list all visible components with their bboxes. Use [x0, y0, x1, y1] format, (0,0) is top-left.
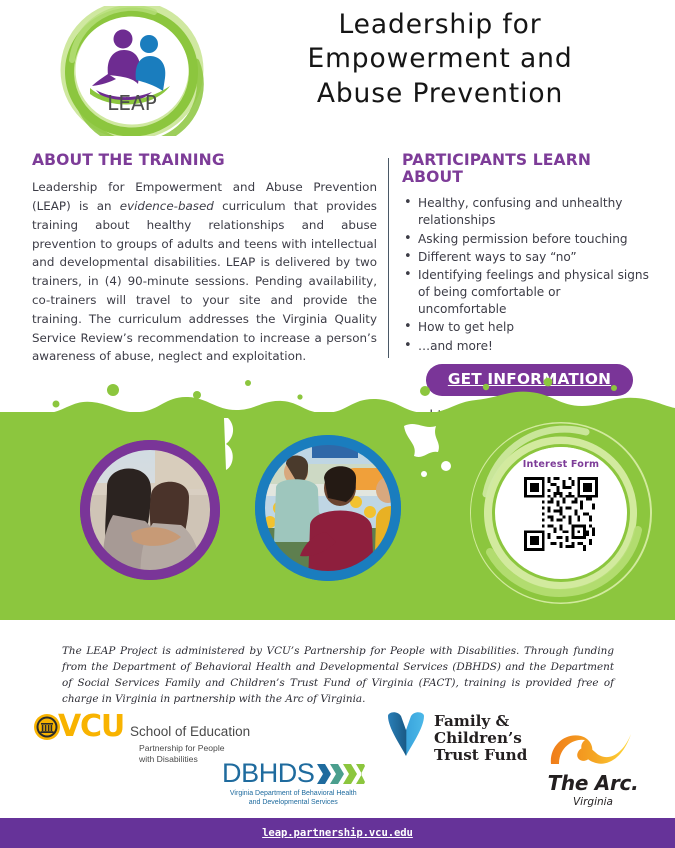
about-paragraph: Leadership for Empowerment and Abuse Pre…: [32, 178, 377, 366]
vcu-seal-icon: [33, 713, 61, 741]
participants-list: Healthy, confusing and unhealthy relatio…: [402, 195, 652, 355]
qr-label: Interest Form: [497, 459, 625, 470]
arc-state-label: Virginia: [538, 796, 648, 808]
leap-logo-icon: LEAP: [46, 6, 218, 136]
family-childrens-trust-fund-logo: Family & Children’s Trust Fund: [385, 710, 527, 764]
qr-code-card: Interest Form: [497, 447, 625, 575]
list-item: How to get help: [402, 319, 652, 336]
vcu-school-label: School of Education: [130, 724, 250, 739]
vcu-logo: VCU School of Education Partnership for …: [33, 713, 250, 765]
list-item: Identifying feelings and physical signs …: [402, 267, 652, 319]
photo-three-people-gardening: [252, 432, 404, 584]
participants-heading: PARTICIPANTS LEARN ABOUT: [402, 152, 652, 186]
qr-code-icon[interactable]: [524, 477, 598, 551]
list-item: Different ways to say “no”: [402, 249, 652, 266]
dbhds-logo: DBHDS Virginia Department of Behavioral …: [222, 760, 365, 807]
dbhds-wordmark: DBHDS: [222, 760, 315, 787]
leap-website-link[interactable]: leap.partnership.vcu.edu: [262, 827, 413, 839]
page-title: Leadership for Empowerment and Abuse Pre…: [225, 8, 655, 111]
leap-logo: LEAP: [46, 6, 218, 136]
about-text-part2: curriculum that provides training about …: [32, 199, 377, 363]
the-arc-virginia-logo: The Arc. Virginia: [538, 728, 648, 808]
page-header: LEAP Leadership for Empowerment and Abus…: [0, 0, 675, 140]
arc-wordmark: The Arc.: [538, 771, 648, 795]
content-columns: ABOUT THE TRAINING Leadership for Empowe…: [0, 152, 675, 367]
about-the-training-section: ABOUT THE TRAINING Leadership for Empowe…: [32, 152, 377, 366]
about-text-emphasis: evidence-based: [120, 199, 214, 213]
column-divider: [388, 158, 389, 358]
bottom-bar: leap.partnership.vcu.edu: [0, 818, 675, 848]
fctf-heart-icon: [385, 710, 427, 762]
partner-logos: VCU School of Education Partnership for …: [0, 700, 675, 810]
fctf-wordmark: Family & Children’s Trust Fund: [434, 713, 527, 764]
participants-learn-section: PARTICIPANTS LEARN ABOUT Healthy, confus…: [402, 152, 652, 356]
list-item: Healthy, confusing and unhealthy relatio…: [402, 195, 652, 229]
funding-disclaimer: The LEAP Project is administered by VCU’…: [62, 644, 614, 707]
photo-1-graphic: [77, 437, 223, 583]
dbhds-chevrons-icon: [317, 762, 365, 786]
arc-swoosh-icon: [545, 728, 641, 768]
leap-logo-text: LEAP: [107, 91, 157, 115]
photo-woman-and-girl-hugging: [77, 437, 223, 583]
about-heading: ABOUT THE TRAINING: [32, 152, 377, 169]
vcu-wordmark: VCU: [58, 713, 124, 742]
list-item: …and more!: [402, 338, 652, 355]
photo-2-graphic: [252, 432, 404, 584]
dbhds-subtitle: Virginia Department of Behavioral Health…: [222, 789, 365, 807]
get-information-button[interactable]: GET INFORMATION: [426, 364, 633, 396]
list-item: Asking permission before touching: [402, 231, 652, 248]
